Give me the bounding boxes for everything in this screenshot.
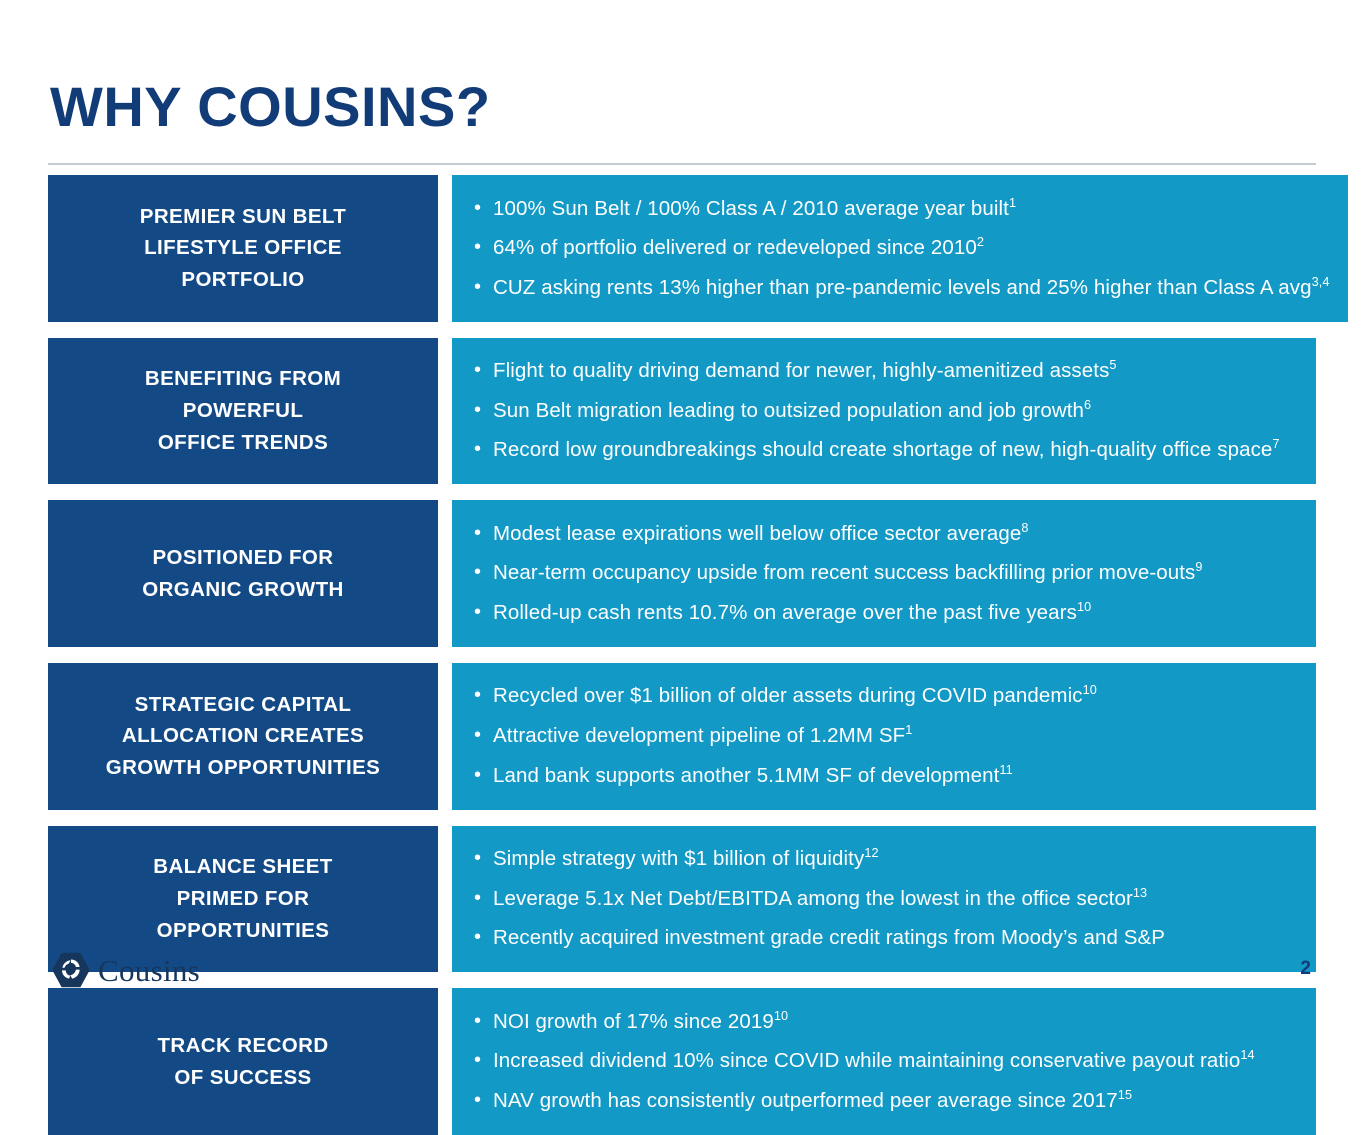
bullet-text: Recycled over $1 billion of older assets… xyxy=(493,684,1083,707)
bullet-text: Increased dividend 10% since COVID while… xyxy=(493,1049,1240,1072)
row-bullets-2: Flight to quality driving demand for new… xyxy=(452,338,1316,485)
bullet-item: Flight to quality driving demand for new… xyxy=(474,360,1298,383)
bullet-item: Sun Belt migration leading to outsized p… xyxy=(474,400,1298,423)
bullet-item: 64% of portfolio delivered or redevelope… xyxy=(474,237,1330,260)
row-label-2: BENEFITING FROMPOWERFULOFFICE TRENDS xyxy=(48,338,438,485)
bullet-text: Flight to quality driving demand for new… xyxy=(493,359,1109,382)
content-row: BENEFITING FROMPOWERFULOFFICE TRENDSFlig… xyxy=(48,338,1316,485)
row-label-text: BENEFITING FROMPOWERFULOFFICE TRENDS xyxy=(145,363,341,458)
bullet-footnote-marker: 9 xyxy=(1195,560,1202,575)
bullet-text: 64% of portfolio delivered or redevelope… xyxy=(493,236,977,259)
bullet-footnote-marker: 10 xyxy=(1083,683,1097,698)
row-bullets-1: 100% Sun Belt / 100% Class A / 2010 aver… xyxy=(452,175,1348,322)
bullet-item: NOI growth of 17% since 201910 xyxy=(474,1011,1298,1034)
bullet-text: Simple strategy with $1 billion of liqui… xyxy=(493,847,864,870)
bullet-footnote-marker: 2 xyxy=(977,234,984,249)
bullet-text: Near-term occupancy upside from recent s… xyxy=(493,561,1195,584)
bullet-item: Land bank supports another 5.1MM SF of d… xyxy=(474,765,1298,788)
bullet-text: NOI growth of 17% since 2019 xyxy=(493,1010,774,1033)
title-divider xyxy=(48,163,1316,165)
row-label-3: POSITIONED FORORGANIC GROWTH xyxy=(48,500,438,647)
bullet-footnote-marker: 6 xyxy=(1084,397,1091,412)
bullet-text: Recently acquired investment grade credi… xyxy=(493,926,1165,949)
row-label-text: POSITIONED FORORGANIC GROWTH xyxy=(142,542,343,606)
row-label-text: TRACK RECORDOF SUCCESS xyxy=(157,1030,328,1094)
bullet-footnote-marker: 12 xyxy=(864,845,878,860)
bullet-footnote-marker: 5 xyxy=(1109,357,1116,372)
row-label-6: TRACK RECORDOF SUCCESS xyxy=(48,988,438,1135)
content-row: BALANCE SHEETPRIMED FOROPPORTUNITIESSimp… xyxy=(48,826,1316,973)
bullet-item: Increased dividend 10% since COVID while… xyxy=(474,1050,1298,1073)
bullet-footnote-marker: 14 xyxy=(1240,1047,1254,1062)
row-label-text: STRATEGIC CAPITALALLOCATION CREATESGROWT… xyxy=(106,689,381,784)
bullet-item: 100% Sun Belt / 100% Class A / 2010 aver… xyxy=(474,198,1330,221)
bullet-item: Rolled-up cash rents 10.7% on average ov… xyxy=(474,602,1298,625)
row-bullets-6: NOI growth of 17% since 201910Increased … xyxy=(452,988,1316,1135)
bullet-footnote-marker: 1 xyxy=(1009,195,1016,210)
bullet-footnote-marker: 10 xyxy=(1077,599,1091,614)
content-rows: PREMIER SUN BELTLIFESTYLE OFFICEPORTFOLI… xyxy=(48,175,1316,1135)
row-label-4: STRATEGIC CAPITALALLOCATION CREATESGROWT… xyxy=(48,663,438,810)
bullet-footnote-marker: 10 xyxy=(774,1008,788,1023)
bullet-text: Land bank supports another 5.1MM SF of d… xyxy=(493,764,999,787)
bullet-text: CUZ asking rents 13% higher than pre-pan… xyxy=(493,276,1312,299)
row-bullets-5: Simple strategy with $1 billion of liqui… xyxy=(452,826,1316,973)
bullet-item: Attractive development pipeline of 1.2MM… xyxy=(474,725,1298,748)
bullet-item: Simple strategy with $1 billion of liqui… xyxy=(474,848,1298,871)
bullet-item: Recently acquired investment grade credi… xyxy=(474,927,1298,950)
row-label-1: PREMIER SUN BELTLIFESTYLE OFFICEPORTFOLI… xyxy=(48,175,438,322)
bullet-text: Rolled-up cash rents 10.7% on average ov… xyxy=(493,601,1077,624)
bullet-text: Modest lease expirations well below offi… xyxy=(493,522,1021,545)
bullet-item: Leverage 5.1x Net Debt/EBITDA among the … xyxy=(474,888,1298,911)
content-row: STRATEGIC CAPITALALLOCATION CREATESGROWT… xyxy=(48,663,1316,810)
bullet-item: CUZ asking rents 13% higher than pre-pan… xyxy=(474,277,1330,300)
bullet-footnote-marker: 7 xyxy=(1272,436,1279,451)
bullet-footnote-marker: 15 xyxy=(1118,1087,1132,1102)
bullet-item: Near-term occupancy upside from recent s… xyxy=(474,562,1298,585)
bullet-footnote-marker: 1 xyxy=(905,722,912,737)
bullet-footnote-marker: 3,4 xyxy=(1312,274,1330,289)
bullet-footnote-marker: 13 xyxy=(1133,885,1147,900)
content-row: TRACK RECORDOF SUCCESSNOI growth of 17% … xyxy=(48,988,1316,1135)
bullet-footnote-marker: 8 xyxy=(1021,520,1028,535)
cousins-wordmark: Cousins xyxy=(98,955,200,986)
bullet-item: NAV growth has consistently outperformed… xyxy=(474,1090,1298,1113)
content-row: POSITIONED FORORGANIC GROWTHModest lease… xyxy=(48,500,1316,647)
bullet-footnote-marker: 11 xyxy=(999,762,1012,777)
bullet-text: NAV growth has consistently outperformed… xyxy=(493,1089,1118,1112)
cousins-hexagon-pinwheel-icon xyxy=(52,952,90,988)
page-number: 2 xyxy=(1300,958,1311,980)
bullet-text: Record low groundbreakings should create… xyxy=(493,438,1272,461)
row-bullets-3: Modest lease expirations well below offi… xyxy=(452,500,1316,647)
bullet-text: Attractive development pipeline of 1.2MM… xyxy=(493,724,905,747)
bullet-text: 100% Sun Belt / 100% Class A / 2010 aver… xyxy=(493,197,1009,220)
bullet-item: Modest lease expirations well below offi… xyxy=(474,523,1298,546)
cousins-logo: Cousins xyxy=(52,952,200,988)
content-row: PREMIER SUN BELTLIFESTYLE OFFICEPORTFOLI… xyxy=(48,175,1316,322)
row-bullets-4: Recycled over $1 billion of older assets… xyxy=(452,663,1316,810)
bullet-item: Record low groundbreakings should create… xyxy=(474,439,1298,462)
bullet-text: Sun Belt migration leading to outsized p… xyxy=(493,399,1084,422)
row-label-text: PREMIER SUN BELTLIFESTYLE OFFICEPORTFOLI… xyxy=(140,201,346,296)
page-title: WHY COUSINS? xyxy=(50,79,491,135)
bullet-item: Recycled over $1 billion of older assets… xyxy=(474,685,1298,708)
bullet-text: Leverage 5.1x Net Debt/EBITDA among the … xyxy=(493,887,1133,910)
row-label-text: BALANCE SHEETPRIMED FOROPPORTUNITIES xyxy=(153,851,332,946)
row-label-5: BALANCE SHEETPRIMED FOROPPORTUNITIES xyxy=(48,826,438,973)
